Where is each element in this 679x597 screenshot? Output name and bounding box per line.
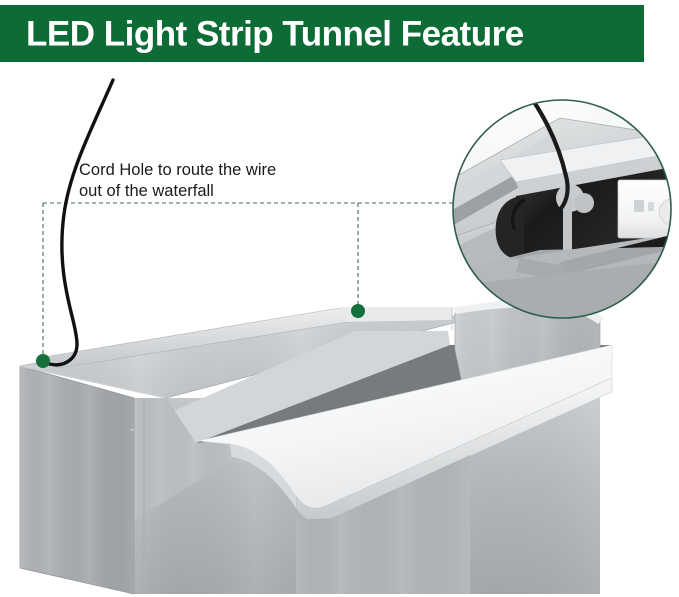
left-cord-hole-marker [36, 354, 50, 368]
cord-hole-markers [0, 0, 679, 597]
product-infographic: LED Light Strip Tunnel Feature [0, 0, 679, 597]
right-cord-hole-marker [351, 304, 365, 318]
